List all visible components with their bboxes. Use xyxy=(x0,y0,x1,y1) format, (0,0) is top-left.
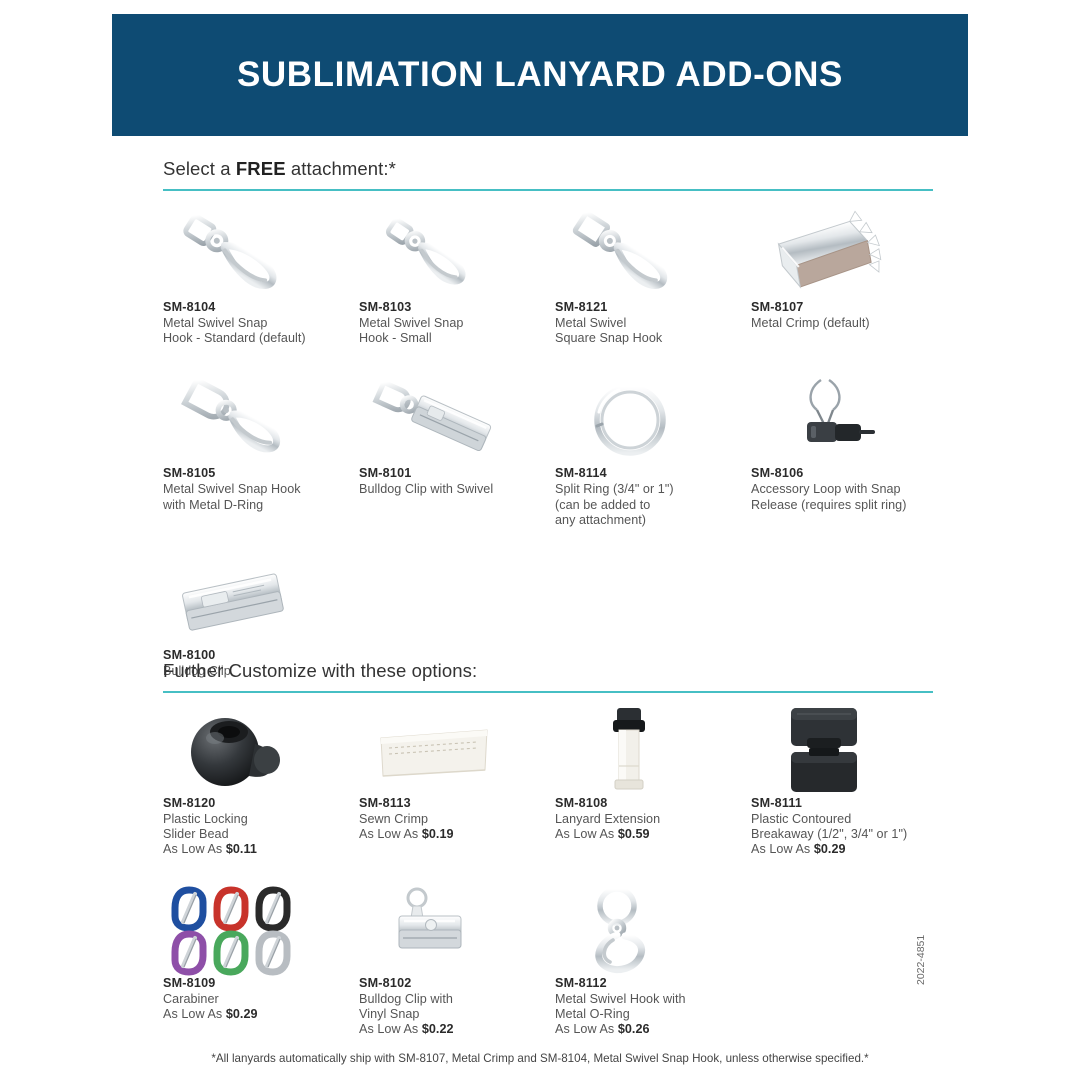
carabiner-icon xyxy=(163,884,313,976)
section-title-emphasis: FREE xyxy=(236,158,286,179)
product-description: Split Ring (3/4" or 1")(can be added toa… xyxy=(555,482,743,528)
product-image xyxy=(163,374,351,466)
product-desc-line: Lanyard Extension xyxy=(555,812,743,827)
product-desc-line: Square Snap Hook xyxy=(555,331,743,346)
product-price-line: As Low As $0.22 xyxy=(359,1022,547,1037)
product-sku: SM-8106 xyxy=(751,466,939,480)
product-description: Plastic ContouredBreakaway (1/2", 3/4" o… xyxy=(751,812,939,858)
bulldog-clip-swivel-icon xyxy=(359,374,509,466)
product-image xyxy=(751,208,939,300)
product-desc-line: Hook - Small xyxy=(359,331,547,346)
metal-crimp-icon xyxy=(751,208,901,300)
section-title-customize: Further Customize with these options: xyxy=(163,660,933,682)
product-sku: SM-8104 xyxy=(163,300,351,314)
page-title: SUBLIMATION LANYARD ADD-ONS xyxy=(237,55,843,95)
product-price: $0.11 xyxy=(226,842,257,856)
product-desc-line: Slider Bead xyxy=(163,827,351,842)
product-desc-line: Metal Swivel Snap xyxy=(359,316,547,331)
product-price: $0.59 xyxy=(618,827,650,841)
product-price-line: As Low As $0.59 xyxy=(555,827,743,842)
product-image xyxy=(163,208,351,300)
product-description: Metal Swivel Hook withMetal O-RingAs Low… xyxy=(555,992,743,1038)
product-desc-line: Metal Swivel xyxy=(555,316,743,331)
swivel-snap-hook-standard-icon xyxy=(163,208,313,300)
product-image xyxy=(359,884,547,976)
product-card[interactable]: SM-8112 Metal Swivel Hook withMetal O-Ri… xyxy=(555,884,751,1038)
product-description: Lanyard ExtensionAs Low As $0.59 xyxy=(555,812,743,842)
product-row: SM-8105 Metal Swivel Snap Hookwith Metal… xyxy=(163,374,953,528)
footer-disclaimer: *All lanyards automatically ship with SM… xyxy=(0,1052,1080,1065)
product-price: $0.22 xyxy=(422,1022,454,1036)
product-sku: SM-8101 xyxy=(359,466,547,480)
product-sku: SM-8121 xyxy=(555,300,743,314)
accessory-loop-snap-release-icon xyxy=(751,374,901,466)
product-desc-line: Bulldog Clip with xyxy=(359,992,547,1007)
section-title-prefix: Select a xyxy=(163,158,236,179)
product-card[interactable]: SM-8109 CarabinerAs Low As $0.29 xyxy=(163,884,359,1038)
section-divider-free xyxy=(163,189,933,191)
product-card[interactable]: SM-8111 Plastic ContouredBreakaway (1/2"… xyxy=(751,704,947,858)
product-description: Metal Swivel SnapHook - Small xyxy=(359,316,547,346)
product-desc-line: Metal Swivel Snap Hook xyxy=(163,482,351,497)
product-image xyxy=(555,208,743,300)
sewn-crimp-icon xyxy=(359,704,509,796)
product-description: Accessory Loop with SnapRelease (require… xyxy=(751,482,939,512)
product-description: Metal Crimp (default) xyxy=(751,316,939,331)
product-image xyxy=(359,704,547,796)
product-sku: SM-8112 xyxy=(555,976,743,990)
product-sku: SM-8109 xyxy=(163,976,351,990)
product-price: $0.29 xyxy=(226,1007,258,1021)
product-desc-line: Carabiner xyxy=(163,992,351,1007)
product-image xyxy=(163,884,351,976)
product-description: Metal SwivelSquare Snap Hook xyxy=(555,316,743,346)
product-image xyxy=(555,704,743,796)
price-label: As Low As xyxy=(751,842,814,856)
plastic-contoured-breakaway-icon xyxy=(751,704,901,796)
product-image xyxy=(751,374,939,466)
catalog-page: SUBLIMATION LANYARD ADD-ONS Select a FRE… xyxy=(0,0,1080,1080)
product-desc-line: Release (requires split ring) xyxy=(751,498,939,513)
plastic-locking-slider-bead-icon xyxy=(163,704,313,796)
product-desc-line: any attachment) xyxy=(555,513,743,528)
price-label: As Low As xyxy=(359,827,422,841)
product-card[interactable]: SM-8113 Sewn CrimpAs Low As $0.19 xyxy=(359,704,555,858)
product-card[interactable]: SM-8107 Metal Crimp (default) xyxy=(751,208,947,346)
product-image xyxy=(751,704,939,796)
product-price: $0.29 xyxy=(814,842,846,856)
product-description: Plastic LockingSlider BeadAs Low As $0.1… xyxy=(163,812,351,858)
product-image xyxy=(359,208,547,300)
product-price: $0.19 xyxy=(422,827,454,841)
product-description: Metal Swivel SnapHook - Standard (defaul… xyxy=(163,316,351,346)
product-desc-line: Sewn Crimp xyxy=(359,812,547,827)
product-sku: SM-8113 xyxy=(359,796,547,810)
product-description: Bulldog Clip withVinyl SnapAs Low As $0.… xyxy=(359,992,547,1038)
product-card[interactable]: SM-8121 Metal SwivelSquare Snap Hook xyxy=(555,208,751,346)
product-desc-line: Breakaway (1/2", 3/4" or 1") xyxy=(751,827,939,842)
product-desc-line: Metal Swivel Hook with xyxy=(555,992,743,1007)
product-description: Sewn CrimpAs Low As $0.19 xyxy=(359,812,547,842)
product-image xyxy=(555,374,743,466)
price-label: As Low As xyxy=(555,1022,618,1036)
product-desc-line: (can be added to xyxy=(555,498,743,513)
product-desc-line: Hook - Standard (default) xyxy=(163,331,351,346)
product-sku: SM-8103 xyxy=(359,300,547,314)
customize-options-grid: SM-8120 Plastic LockingSlider BeadAs Low… xyxy=(163,704,953,1063)
product-description: Bulldog Clip with Swivel xyxy=(359,482,547,497)
product-card[interactable]: SM-8104 Metal Swivel SnapHook - Standard… xyxy=(163,208,359,346)
product-sku: SM-8111 xyxy=(751,796,939,810)
lanyard-extension-icon xyxy=(555,704,705,796)
price-label: As Low As xyxy=(359,1022,422,1036)
product-card[interactable]: SM-8106 Accessory Loop with SnapRelease … xyxy=(751,374,947,528)
product-price-line: As Low As $0.29 xyxy=(163,1007,351,1022)
product-sku: SM-8120 xyxy=(163,796,351,810)
product-image xyxy=(555,884,743,976)
product-image xyxy=(163,704,351,796)
section-title-free: Select a FREE attachment:* xyxy=(163,158,933,180)
price-label: As Low As xyxy=(555,827,618,841)
section-customize-header: Further Customize with these options: xyxy=(163,660,933,693)
product-sku: SM-8114 xyxy=(555,466,743,480)
product-description: Metal Swivel Snap Hookwith Metal D-Ring xyxy=(163,482,351,512)
section-title-suffix: attachment:* xyxy=(286,158,396,179)
product-card[interactable]: SM-8120 Plastic LockingSlider BeadAs Low… xyxy=(163,704,359,858)
product-image xyxy=(359,374,547,466)
product-sku: SM-8107 xyxy=(751,300,939,314)
product-price-line: As Low As $0.26 xyxy=(555,1022,743,1037)
product-row: SM-8104 Metal Swivel SnapHook - Standard… xyxy=(163,208,953,346)
product-desc-line: Accessory Loop with Snap xyxy=(751,482,939,497)
product-row: SM-8120 Plastic LockingSlider BeadAs Low… xyxy=(163,704,953,858)
product-sku: SM-8102 xyxy=(359,976,547,990)
product-price-line: As Low As $0.29 xyxy=(751,842,939,857)
product-card[interactable]: SM-8108 Lanyard ExtensionAs Low As $0.59 xyxy=(555,704,751,858)
product-desc-line: Metal Swivel Snap xyxy=(163,316,351,331)
product-price-line: As Low As $0.11 xyxy=(163,842,351,857)
swivel-snap-hook-small-icon xyxy=(359,208,509,300)
bulldog-clip-icon xyxy=(163,556,313,648)
product-desc-line: Split Ring (3/4" or 1") xyxy=(555,482,743,497)
product-image xyxy=(163,556,351,648)
product-row: SM-8109 CarabinerAs Low As $0.29 SM-8102… xyxy=(163,884,953,1038)
product-desc-line: Metal Crimp (default) xyxy=(751,316,939,331)
side-reference-code: 2022-4851 xyxy=(915,935,927,985)
product-price: $0.26 xyxy=(618,1022,650,1036)
section-divider-customize xyxy=(163,691,933,693)
swivel-square-snap-hook-icon xyxy=(555,208,705,300)
product-desc-line: Metal O-Ring xyxy=(555,1007,743,1022)
swivel-hook-oring-icon xyxy=(555,884,705,976)
header-banner: SUBLIMATION LANYARD ADD-ONS xyxy=(112,14,968,136)
swivel-snap-hook-dring-icon xyxy=(163,374,313,466)
product-desc-line: Plastic Contoured xyxy=(751,812,939,827)
product-desc-line: Plastic Locking xyxy=(163,812,351,827)
product-card[interactable]: SM-8105 Metal Swivel Snap Hookwith Metal… xyxy=(163,374,359,528)
product-description: CarabinerAs Low As $0.29 xyxy=(163,992,351,1022)
product-sku: SM-8108 xyxy=(555,796,743,810)
product-card[interactable]: SM-8103 Metal Swivel SnapHook - Small xyxy=(359,208,555,346)
split-ring-icon xyxy=(555,374,705,466)
product-price-line: As Low As $0.19 xyxy=(359,827,547,842)
product-sku: SM-8105 xyxy=(163,466,351,480)
section-free-attachments-header: Select a FREE attachment:* xyxy=(163,158,933,191)
price-label: As Low As xyxy=(163,1007,226,1021)
free-attachments-grid: SM-8104 Metal Swivel SnapHook - Standard… xyxy=(163,208,953,707)
product-card[interactable]: SM-8114 Split Ring (3/4" or 1")(can be a… xyxy=(555,374,751,528)
product-desc-line: Vinyl Snap xyxy=(359,1007,547,1022)
product-desc-line: Bulldog Clip with Swivel xyxy=(359,482,547,497)
product-card[interactable]: SM-8101 Bulldog Clip with Swivel xyxy=(359,374,555,528)
product-card[interactable]: SM-8102 Bulldog Clip withVinyl SnapAs Lo… xyxy=(359,884,555,1038)
price-label: As Low As xyxy=(163,842,226,856)
product-desc-line: with Metal D-Ring xyxy=(163,498,351,513)
bulldog-clip-vinyl-snap-icon xyxy=(359,884,509,976)
